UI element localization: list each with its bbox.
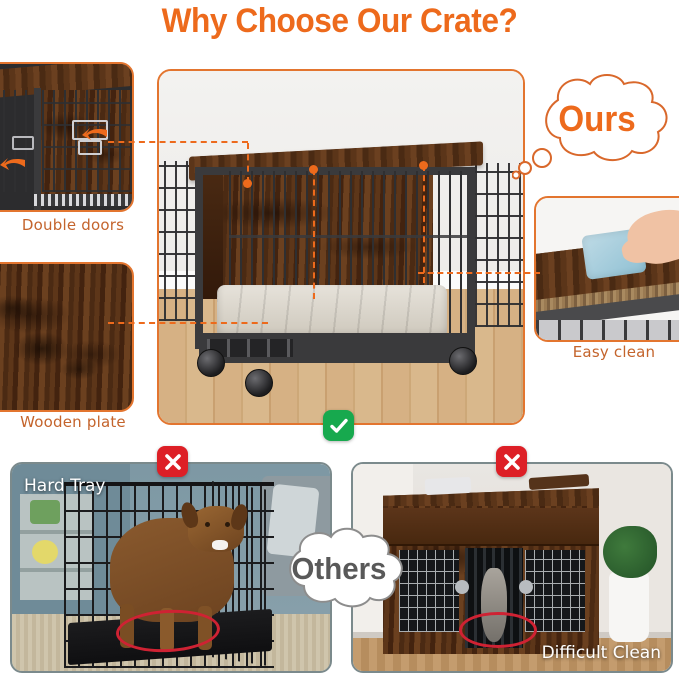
crate-cushion: [217, 285, 447, 339]
feature-photo-easy-clean: [534, 196, 679, 342]
cross-badge-icon: [157, 446, 188, 477]
callout-line-double-doors: [108, 141, 248, 143]
callout-line: [313, 169, 315, 299]
others-label-hard-tray: Hard Tray: [24, 476, 105, 496]
page-title: Why Choose Our Crate?: [24, 2, 655, 41]
cross-badge-icon: [496, 446, 527, 477]
red-ellipse-highlight: [459, 612, 537, 648]
feature-label-wooden-plate: Wooden plate: [0, 413, 146, 431]
caster-wheel-icon: [449, 347, 477, 375]
infographic-root: Why Choose Our Crate? Double doors Woode…: [0, 0, 679, 675]
check-badge-icon: [323, 410, 354, 441]
main-product-photo: [157, 69, 525, 425]
caster-wheel-icon: [197, 349, 225, 377]
caster-wheel-icon: [245, 369, 273, 397]
feature-photo-double-doors: [0, 62, 134, 212]
callout-line-wooden-plate: [108, 322, 268, 324]
ours-bubble-label: Ours: [559, 98, 636, 140]
others-bubble-label: Others: [292, 551, 387, 587]
others-label-difficult-clean: Difficult Clean: [542, 643, 661, 663]
arrow-left-icon: [82, 126, 108, 142]
feature-photo-wooden-plate: [0, 262, 134, 412]
callout-line: [247, 143, 249, 183]
feature-label-double-doors: Double doors: [0, 216, 146, 234]
feature-label-easy-clean: Easy clean: [534, 343, 679, 361]
others-bubble: Others: [264, 521, 414, 617]
thought-cloud-tail-icon: [512, 146, 558, 180]
arrow-left-icon: [0, 156, 26, 172]
callout-line-easy-clean: [418, 272, 540, 274]
callout-line: [423, 165, 425, 283]
